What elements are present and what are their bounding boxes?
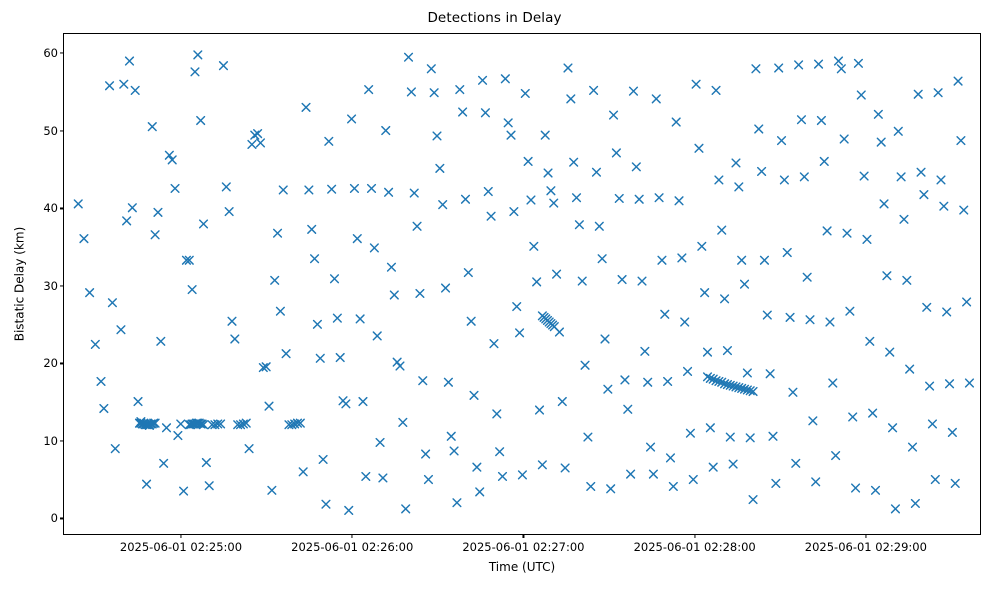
scatter-marker bbox=[576, 221, 584, 229]
x-tick-label: 2025-06-01 02:25:00 bbox=[120, 540, 242, 554]
scatter-marker bbox=[929, 420, 937, 428]
y-axis-label: Bistatic Delay (km) bbox=[10, 33, 28, 535]
scatter-marker bbox=[445, 378, 453, 386]
scatter-marker bbox=[410, 189, 418, 197]
scatter-marker bbox=[342, 400, 350, 408]
scatter-marker bbox=[590, 87, 598, 95]
scatter-marker bbox=[533, 278, 541, 286]
scatter-marker bbox=[849, 413, 857, 421]
scatter-marker bbox=[741, 280, 749, 288]
scatter-marker bbox=[800, 173, 808, 181]
scatter-marker bbox=[906, 365, 914, 373]
scatter-marker bbox=[365, 86, 373, 94]
scatter-marker bbox=[111, 445, 119, 453]
scatter-marker bbox=[812, 478, 820, 486]
scatter-marker bbox=[550, 199, 558, 207]
x-tick-label: 2025-06-01 02:27:00 bbox=[462, 540, 584, 554]
scatter-marker bbox=[126, 57, 134, 65]
scatter-marker bbox=[857, 91, 865, 99]
scatter-marker bbox=[835, 57, 843, 65]
scatter-marker bbox=[558, 398, 566, 406]
scatter-marker bbox=[516, 329, 524, 337]
scatter-marker bbox=[220, 62, 228, 70]
scatter-marker bbox=[328, 185, 336, 193]
scatter-marker bbox=[695, 144, 703, 152]
scatter-marker bbox=[604, 385, 612, 393]
scatter-marker bbox=[721, 295, 729, 303]
scatter-marker bbox=[914, 90, 922, 98]
scatter-marker bbox=[388, 263, 396, 271]
scatter-marker bbox=[353, 235, 361, 243]
scatter-marker bbox=[689, 476, 697, 484]
scatter-marker bbox=[664, 378, 672, 386]
y-tick-mark bbox=[60, 518, 64, 519]
scatter-marker bbox=[368, 185, 376, 193]
scatter-marker bbox=[897, 173, 905, 181]
scatter-marker bbox=[681, 318, 689, 326]
scatter-marker bbox=[447, 432, 455, 440]
scatter-marker bbox=[783, 249, 791, 257]
scatter-marker bbox=[308, 226, 316, 234]
scatter-marker bbox=[798, 116, 806, 124]
scatter-marker bbox=[632, 163, 640, 171]
scatter-marker bbox=[177, 420, 185, 428]
scatter-marker bbox=[598, 255, 606, 263]
scatter-marker bbox=[638, 277, 646, 285]
scatter-marker bbox=[277, 307, 285, 315]
chart-title: Detections in Delay bbox=[0, 10, 989, 26]
scatter-marker bbox=[860, 172, 868, 180]
scatter-marker bbox=[578, 277, 586, 285]
scatter-marker bbox=[806, 316, 814, 324]
scatter-marker bbox=[803, 273, 811, 281]
scatter-marker bbox=[433, 132, 441, 140]
scatter-marker bbox=[419, 377, 427, 385]
scatter-marker bbox=[496, 448, 504, 456]
y-tick-label: 30 bbox=[43, 279, 58, 293]
scatter-marker bbox=[709, 463, 717, 471]
scatter-marker bbox=[786, 314, 794, 322]
scatter-marker bbox=[282, 350, 290, 358]
scatter-marker bbox=[766, 370, 774, 378]
x-tick-mark bbox=[523, 534, 524, 538]
scatter-marker bbox=[909, 443, 917, 451]
scatter-marker bbox=[151, 231, 159, 239]
scatter-marker bbox=[279, 186, 287, 194]
scatter-marker bbox=[314, 320, 322, 328]
scatter-marker bbox=[778, 137, 786, 145]
scatter-marker bbox=[265, 402, 273, 410]
scatter-marker bbox=[758, 168, 766, 176]
scatter-marker bbox=[74, 200, 82, 208]
scatter-marker bbox=[539, 461, 547, 469]
scatter-marker bbox=[789, 388, 797, 396]
scatter-marker bbox=[650, 470, 658, 478]
scatter-marker bbox=[744, 369, 752, 377]
scatter-marker bbox=[382, 127, 390, 135]
scatter-marker bbox=[889, 424, 897, 432]
scatter-marker bbox=[684, 368, 692, 376]
scatter-marker bbox=[257, 139, 265, 147]
scatter-marker bbox=[949, 429, 957, 437]
scatter-marker bbox=[373, 332, 381, 340]
x-tick-label: 2025-06-01 02:29:00 bbox=[805, 540, 927, 554]
scatter-marker bbox=[624, 405, 632, 413]
scatter-marker bbox=[134, 398, 142, 406]
scatter-marker bbox=[371, 244, 379, 252]
scatter-marker bbox=[880, 200, 888, 208]
scatter-marker bbox=[80, 235, 88, 243]
x-axis-label: Time (UTC) bbox=[63, 560, 981, 574]
scatter-marker bbox=[254, 130, 262, 138]
scatter-marker bbox=[886, 348, 894, 356]
scatter-marker bbox=[692, 80, 700, 88]
scatter-marker bbox=[866, 337, 874, 345]
scatter-marker bbox=[946, 380, 954, 388]
scatter-marker bbox=[837, 65, 845, 73]
y-tick-label: 40 bbox=[43, 201, 58, 215]
scatter-marker bbox=[450, 447, 458, 455]
scatter-marker bbox=[547, 187, 555, 195]
scatter-marker bbox=[157, 337, 165, 345]
scatter-marker bbox=[630, 87, 638, 95]
scatter-marker bbox=[530, 242, 538, 250]
scatter-marker bbox=[954, 77, 962, 85]
scatter-marker bbox=[724, 347, 732, 355]
scatter-marker bbox=[336, 354, 344, 362]
scatter-marker bbox=[203, 459, 211, 467]
scatter-marker bbox=[792, 459, 800, 467]
scatter-marker bbox=[621, 376, 629, 384]
scatter-marker bbox=[746, 434, 754, 442]
scatter-marker bbox=[507, 131, 515, 139]
scatter-marker bbox=[732, 159, 740, 167]
scatter-marker bbox=[188, 286, 196, 294]
scatter-marker bbox=[524, 158, 532, 166]
y-tick-mark bbox=[60, 440, 64, 441]
scatter-marker bbox=[399, 419, 407, 427]
x-tick-mark bbox=[180, 534, 181, 538]
y-tick-mark bbox=[60, 208, 64, 209]
scatter-marker bbox=[593, 168, 601, 176]
scatter-marker bbox=[117, 326, 125, 334]
scatter-marker bbox=[587, 483, 595, 491]
scatter-marker bbox=[877, 138, 885, 146]
scatter-marker bbox=[143, 480, 151, 488]
scatter-marker bbox=[826, 318, 834, 326]
y-tick-label: 60 bbox=[43, 46, 58, 60]
scatter-marker bbox=[422, 450, 430, 458]
scatter-marker bbox=[109, 299, 117, 307]
y-tick-label: 10 bbox=[43, 434, 58, 448]
scatter-marker bbox=[299, 468, 307, 476]
scatter-marker bbox=[379, 474, 387, 482]
scatter-marker bbox=[439, 201, 447, 209]
scatter-marker bbox=[852, 484, 860, 492]
scatter-marker bbox=[402, 505, 410, 513]
scatter-marker bbox=[128, 204, 136, 212]
scatter-marker bbox=[823, 227, 831, 235]
scatter-marker bbox=[934, 89, 942, 97]
scatter-marker bbox=[479, 76, 487, 84]
scatter-marker bbox=[715, 176, 723, 184]
scatter-marker bbox=[667, 454, 675, 462]
scatter-marker bbox=[473, 463, 481, 471]
scatter-marker bbox=[829, 379, 837, 387]
scatter-marker bbox=[931, 476, 939, 484]
x-tick-mark bbox=[352, 534, 353, 538]
scatter-marker bbox=[903, 276, 911, 284]
scatter-marker bbox=[502, 75, 510, 83]
scatter-marker bbox=[644, 378, 652, 386]
scatter-marker bbox=[91, 341, 99, 349]
y-tick-mark bbox=[60, 285, 64, 286]
scatter-marker bbox=[892, 505, 900, 513]
scatter-marker bbox=[390, 291, 398, 299]
x-tick-label: 2025-06-01 02:28:00 bbox=[634, 540, 756, 554]
y-tick-label: 0 bbox=[51, 511, 58, 525]
scatter-marker bbox=[356, 315, 364, 323]
scatter-marker bbox=[405, 53, 413, 61]
scatter-marker bbox=[661, 310, 669, 318]
plot-axes: 01020304050602025-06-01 02:25:002025-06-… bbox=[63, 33, 981, 535]
scatter-marker bbox=[678, 254, 686, 262]
scatter-marker bbox=[274, 229, 282, 237]
scatter-marker bbox=[726, 433, 734, 441]
scatter-marker bbox=[430, 89, 438, 97]
scatter-marker bbox=[613, 149, 621, 157]
scatter-marker bbox=[484, 188, 492, 196]
scatter-marker bbox=[408, 88, 416, 96]
scatter-marker bbox=[966, 379, 974, 387]
x-tick-mark bbox=[865, 534, 866, 538]
scatter-marker bbox=[197, 117, 205, 125]
y-tick-label: 50 bbox=[43, 124, 58, 138]
scatter-marker bbox=[385, 188, 393, 196]
scatter-marker bbox=[772, 480, 780, 488]
scatter-marker bbox=[669, 483, 677, 491]
scatter-marker bbox=[527, 196, 535, 204]
y-axis-label-text: Bistatic Delay (km) bbox=[12, 227, 26, 342]
scatter-marker bbox=[567, 95, 575, 103]
scatter-marker bbox=[937, 176, 945, 184]
scatter-marker bbox=[641, 348, 649, 356]
scatter-marker bbox=[615, 195, 623, 203]
scatter-marker bbox=[658, 256, 666, 264]
scatter-marker bbox=[863, 236, 871, 244]
scatter-marker bbox=[610, 111, 618, 119]
scatter-marker bbox=[490, 340, 498, 348]
scatter-marker bbox=[618, 276, 626, 284]
scatter-marker bbox=[963, 298, 971, 306]
scatter-marker bbox=[476, 488, 484, 496]
scatter-marker bbox=[154, 209, 162, 217]
scatter-marker bbox=[499, 473, 507, 481]
scatter-marker bbox=[687, 429, 695, 437]
y-tick-mark bbox=[60, 363, 64, 364]
scatter-marker bbox=[820, 158, 828, 166]
scatter-marker bbox=[738, 256, 746, 264]
scatter-marker bbox=[493, 410, 501, 418]
scatter-marker bbox=[735, 183, 743, 191]
scatter-marker bbox=[729, 460, 737, 468]
scatter-marker bbox=[268, 486, 276, 494]
scatter-marker bbox=[923, 303, 931, 311]
scatter-marker bbox=[459, 108, 467, 116]
scatter-series-detections bbox=[74, 51, 973, 514]
scatter-marker bbox=[581, 361, 589, 369]
scatter-marker bbox=[106, 82, 114, 90]
scatter-marker bbox=[883, 272, 891, 280]
figure-canvas: Detections in Delay Bistatic Delay (km) … bbox=[0, 0, 989, 590]
scatter-marker bbox=[228, 317, 236, 325]
scatter-marker bbox=[225, 208, 233, 216]
scatter-marker bbox=[564, 64, 572, 72]
scatter-marker bbox=[467, 317, 475, 325]
scatter-marker bbox=[442, 284, 450, 292]
scatter-marker bbox=[123, 217, 131, 225]
scatter-marker bbox=[348, 115, 356, 123]
scatter-marker bbox=[519, 471, 527, 479]
scatter-marker bbox=[920, 191, 928, 199]
scatter-marker bbox=[163, 424, 171, 432]
scatter-marker bbox=[960, 206, 968, 214]
scatter-marker bbox=[205, 482, 213, 490]
scatter-marker bbox=[872, 486, 880, 494]
scatter-marker bbox=[470, 392, 478, 400]
scatter-marker bbox=[120, 80, 128, 88]
scatter-marker bbox=[453, 499, 461, 507]
scatter-marker bbox=[894, 127, 902, 135]
scatter-marker bbox=[513, 303, 521, 311]
scatter-series-track-cluster-4 bbox=[539, 312, 559, 330]
scatter-marker bbox=[912, 500, 920, 508]
scatter-marker bbox=[672, 118, 680, 126]
scatter-marker bbox=[271, 276, 279, 284]
scatter-marker bbox=[319, 456, 327, 464]
scatter-series-track-cluster-1 bbox=[136, 419, 159, 428]
scatter-marker bbox=[100, 405, 108, 413]
scatter-marker bbox=[570, 158, 578, 166]
scatter-marker bbox=[97, 378, 105, 386]
scatter-marker bbox=[325, 137, 333, 145]
scatter-marker bbox=[763, 311, 771, 319]
scatter-marker bbox=[131, 87, 139, 95]
scatter-marker bbox=[843, 229, 851, 237]
scatter-marker bbox=[675, 197, 683, 205]
scatter-marker bbox=[171, 185, 179, 193]
scatter-marker bbox=[940, 202, 948, 210]
scatter-marker bbox=[362, 473, 370, 481]
scatter-marker bbox=[595, 222, 603, 230]
scatter-marker bbox=[305, 186, 313, 194]
y-tick-mark bbox=[60, 53, 64, 54]
scatter-marker bbox=[818, 117, 826, 125]
scatter-marker bbox=[425, 476, 433, 484]
x-tick-label: 2025-06-01 02:26:00 bbox=[291, 540, 413, 554]
scatter-marker bbox=[376, 439, 384, 447]
scatter-marker bbox=[359, 398, 367, 406]
scatter-marker bbox=[248, 141, 256, 149]
x-tick-mark bbox=[694, 534, 695, 538]
scatter-marker bbox=[712, 87, 720, 95]
scatter-marker bbox=[231, 335, 239, 343]
scatter-marker bbox=[553, 270, 561, 278]
scatter-marker bbox=[652, 95, 660, 103]
scatter-marker bbox=[917, 168, 925, 176]
scatter-marker bbox=[345, 507, 353, 515]
scatter-marker bbox=[482, 109, 490, 117]
scatter-marker bbox=[607, 485, 615, 493]
scatter-marker bbox=[541, 131, 549, 139]
scatter-marker bbox=[331, 275, 339, 283]
scatter-marker bbox=[698, 242, 706, 250]
scatter-marker bbox=[222, 183, 230, 191]
scatter-marker bbox=[707, 424, 715, 432]
scatter-marker bbox=[635, 195, 643, 203]
scatter-marker bbox=[815, 60, 823, 68]
scatter-marker bbox=[869, 409, 877, 417]
scatter-marker bbox=[561, 464, 569, 472]
scatter-marker bbox=[627, 470, 635, 478]
scatter-marker bbox=[521, 90, 529, 98]
scatter-marker bbox=[464, 269, 472, 277]
scatter-marker bbox=[584, 433, 592, 441]
scatter-series-track-cluster-3 bbox=[704, 373, 757, 395]
scatter-marker bbox=[351, 185, 359, 193]
scatter-marker bbox=[573, 194, 581, 202]
scatter-marker bbox=[311, 255, 319, 263]
scatter-marker bbox=[200, 220, 208, 228]
scatter-marker bbox=[775, 64, 783, 72]
scatter-marker bbox=[160, 459, 168, 467]
scatter-marker bbox=[647, 443, 655, 451]
y-tick-label: 20 bbox=[43, 356, 58, 370]
scatter-series-track-cluster-2 bbox=[185, 419, 207, 428]
scatter-marker bbox=[855, 60, 863, 68]
scatter-marker bbox=[456, 86, 464, 94]
scatter-marker bbox=[832, 452, 840, 460]
scatter-marker bbox=[191, 68, 199, 76]
scatter-marker bbox=[316, 354, 324, 362]
scatter-marker bbox=[396, 362, 404, 370]
scatter-marker bbox=[180, 487, 188, 495]
scatter-marker bbox=[718, 226, 726, 234]
scatter-marker bbox=[302, 104, 310, 112]
scatter-marker bbox=[761, 256, 769, 264]
scatter-marker bbox=[840, 135, 848, 143]
scatter-marker bbox=[174, 432, 182, 440]
scatter-marker bbox=[655, 194, 663, 202]
scatter-marker bbox=[504, 119, 512, 127]
scatter-marker bbox=[943, 308, 951, 316]
scatter-marker bbox=[462, 195, 470, 203]
scatter-marker bbox=[436, 165, 444, 173]
scatter-marker bbox=[795, 61, 803, 69]
scatter-marker bbox=[769, 432, 777, 440]
scatter-marker bbox=[544, 169, 552, 177]
scatter-marker bbox=[781, 176, 789, 184]
scatter-marker bbox=[809, 417, 817, 425]
scatter-marker bbox=[536, 406, 544, 414]
scatter-marker bbox=[416, 290, 424, 298]
scatter-marker bbox=[601, 335, 609, 343]
scatter-marker bbox=[322, 500, 330, 508]
scatter-marker bbox=[846, 307, 854, 315]
scatter-layer bbox=[64, 34, 980, 534]
scatter-marker bbox=[194, 51, 202, 59]
scatter-marker bbox=[148, 123, 156, 131]
